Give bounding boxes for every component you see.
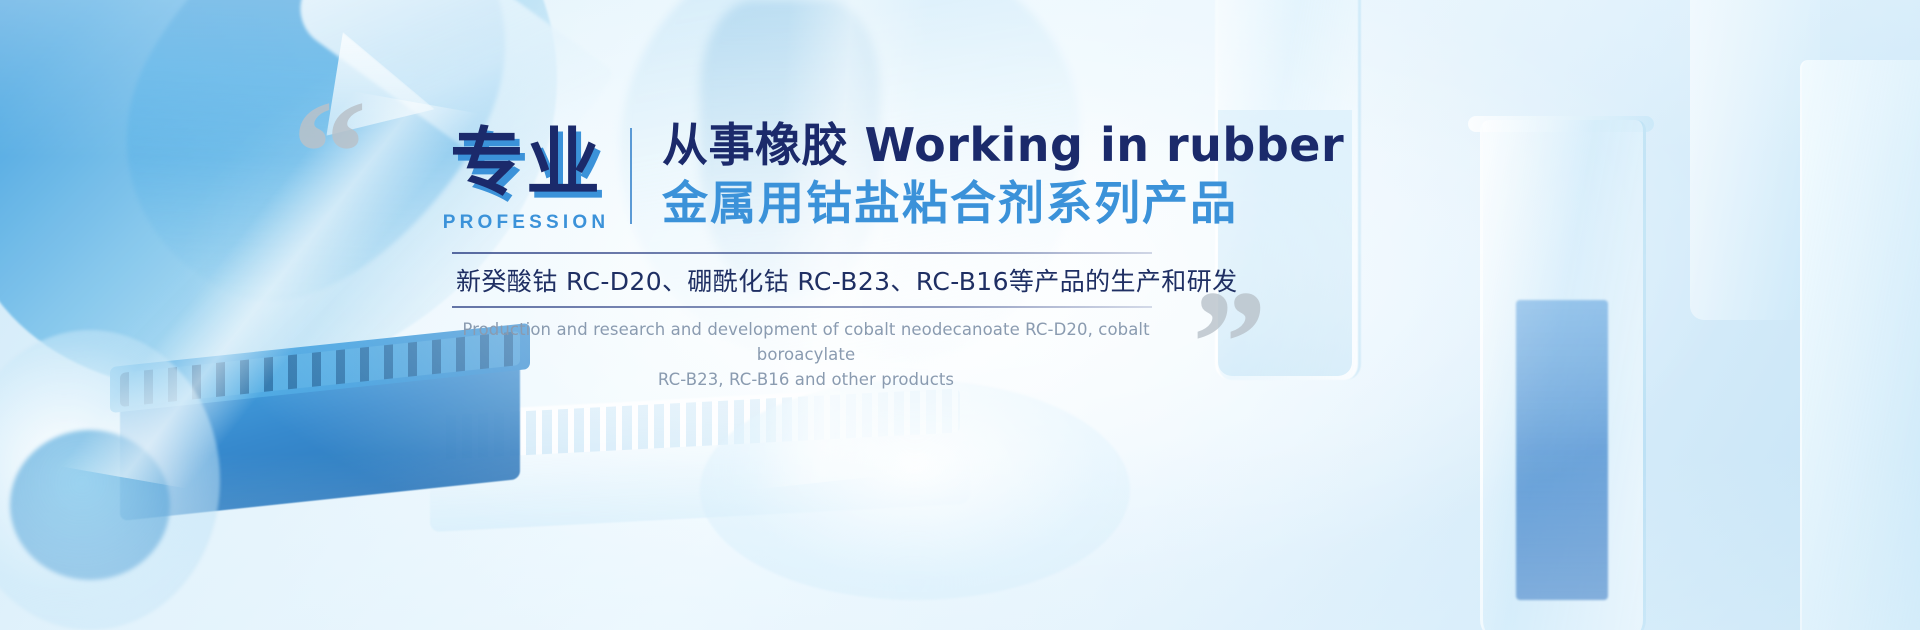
- divider-rule-top: [452, 252, 1152, 254]
- title-group: 从事橡胶 Working in rubber 金属用钴盐粘合剂系列产品: [662, 120, 1344, 229]
- subtitle-text: 新癸酸钴 RC-D20、硼酰化钴 RC-B23、RC-B16等产品的生产和研发: [456, 262, 1156, 298]
- description-line-1: Production and research and development …: [456, 318, 1156, 368]
- description-text: Production and research and development …: [456, 318, 1156, 392]
- title-line-2: 金属用钴盐粘合剂系列产品: [662, 178, 1344, 230]
- profession-logo-cn: 专业: [450, 126, 602, 200]
- divider-rule-bottom: [452, 306, 1152, 308]
- title-line-1: 从事橡胶 Working in rubber: [662, 120, 1344, 172]
- banner-content: “ ” 专业 PROFESSION 从事橡胶 Working in rubber…: [0, 0, 1920, 630]
- hero-banner: “ ” 专业 PROFESSION 从事橡胶 Working in rubber…: [0, 0, 1920, 630]
- headline-row: 专业 PROFESSION 从事橡胶 Working in rubber 金属用…: [448, 120, 1344, 234]
- vertical-divider: [630, 128, 632, 224]
- profession-logo-block: 专业 PROFESSION: [448, 120, 604, 234]
- opening-quote-mark: “: [292, 78, 361, 228]
- description-line-2: RC-B23, RC-B16 and other products: [456, 368, 1156, 393]
- profession-logo-en: PROFESSION: [443, 212, 610, 234]
